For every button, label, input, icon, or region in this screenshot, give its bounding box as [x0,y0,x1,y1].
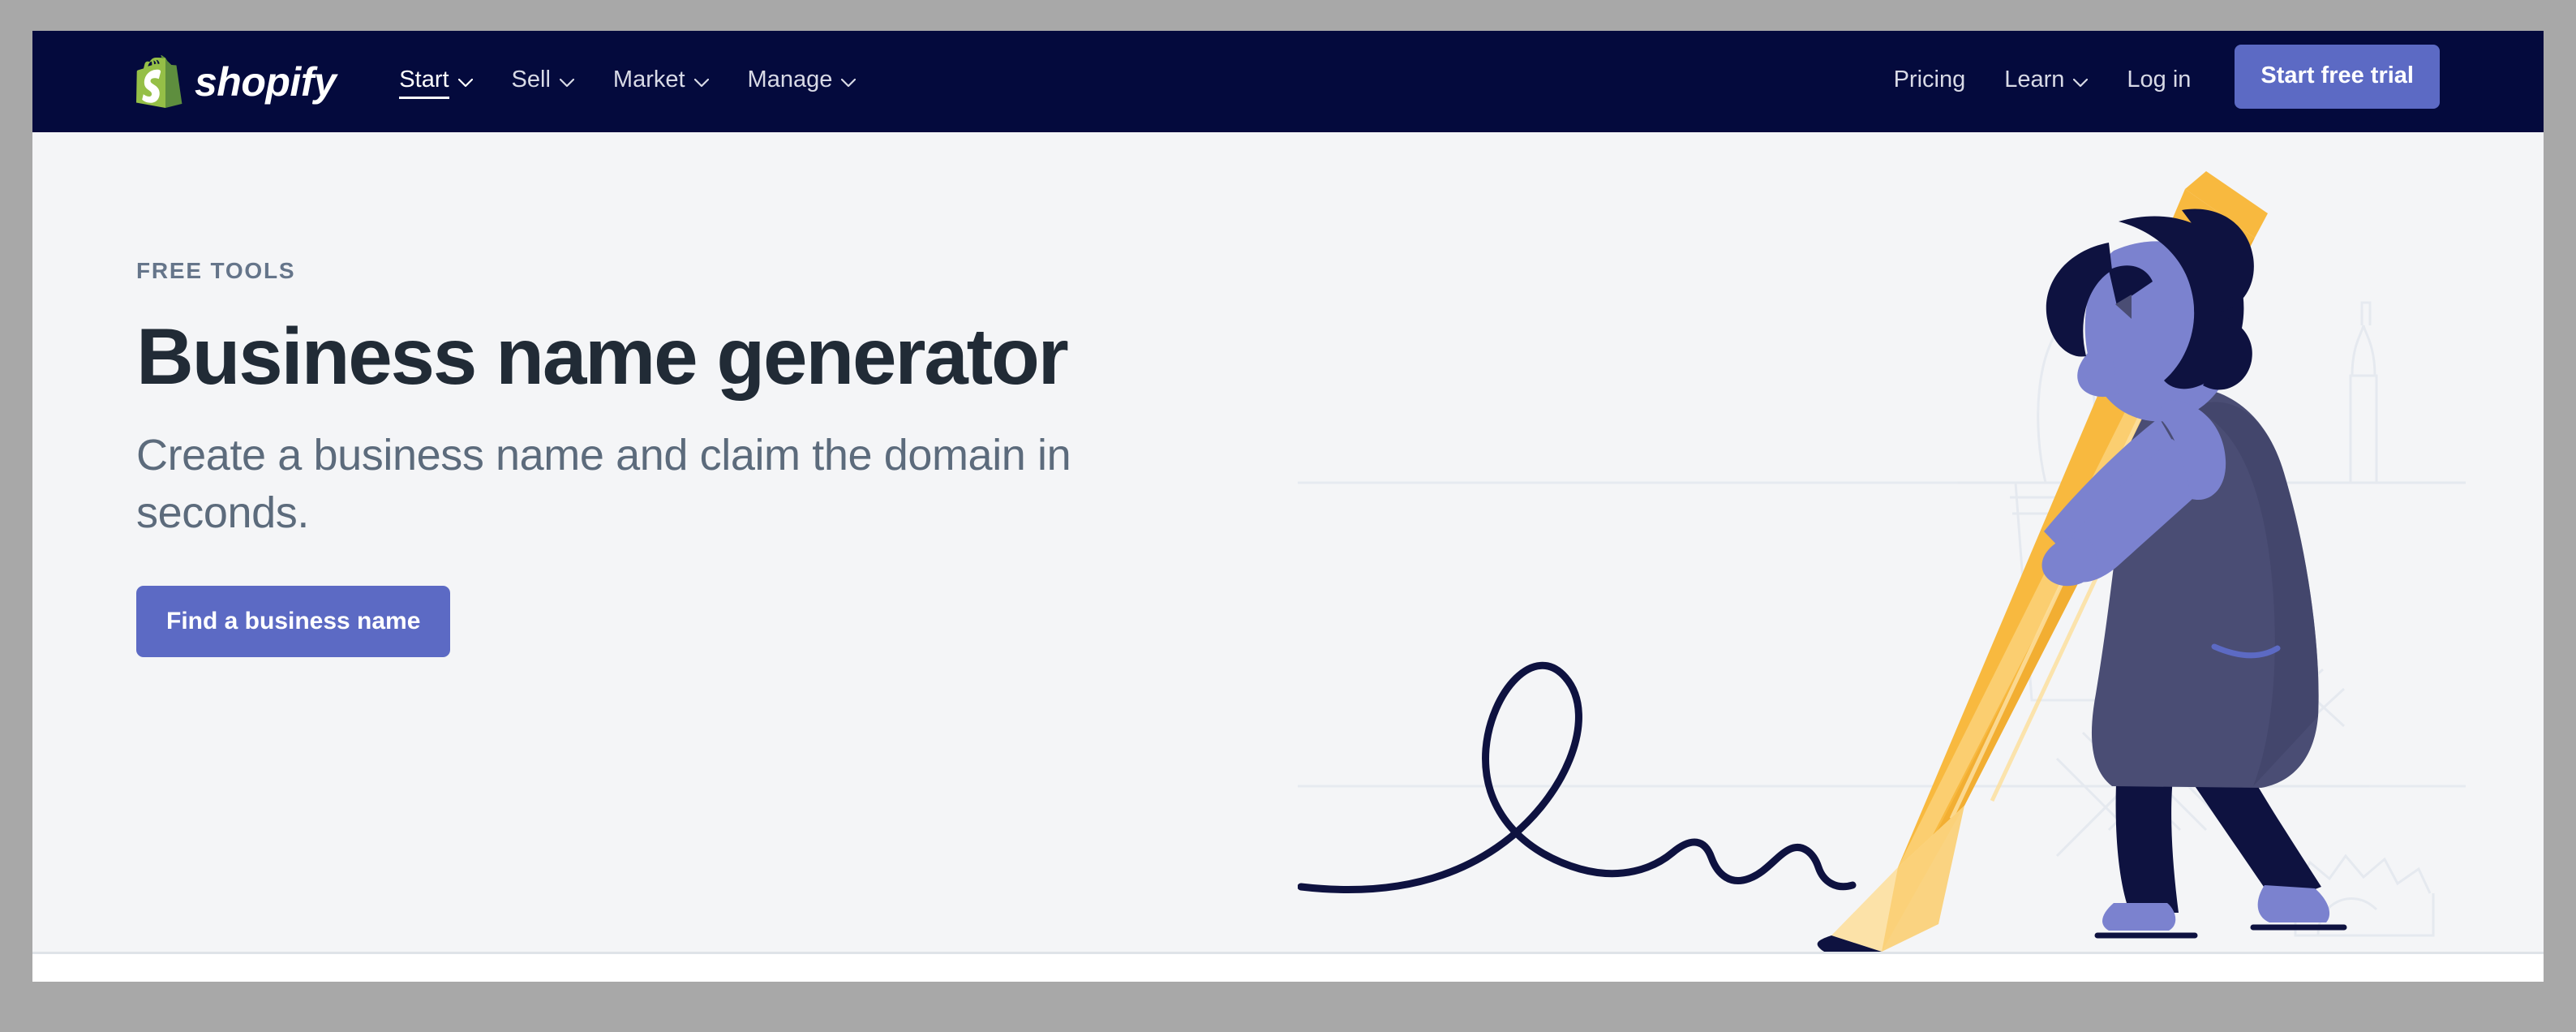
hero-section: FREE TOOLS Business name generator Creat… [32,132,2544,954]
chevron-down-icon [694,76,709,88]
chevron-down-icon [841,76,856,88]
hero-copy-block: FREE TOOLS Business name generator Creat… [136,258,1353,657]
browser-frame: shopify Start Sell Market [0,0,2576,1032]
chevron-down-icon [560,76,574,88]
giant-yellow-pencil [1818,171,2268,954]
nav-item-market-label: Market [613,67,685,97]
nav-item-sell[interactable]: Sell [492,62,594,101]
primary-navigation-bar: shopify Start Sell Market [32,31,2544,132]
shopify-bag-icon [136,55,183,109]
nav-item-market[interactable]: Market [594,62,728,101]
nav-item-learn-label: Learn [2004,67,2064,97]
chevron-down-icon [458,76,473,88]
nav-item-log-in-label: Log in [2127,67,2191,97]
hero-eyebrow: FREE TOOLS [136,258,1353,284]
find-a-business-name-button[interactable]: Find a business name [136,586,450,657]
nav-item-start[interactable]: Start [380,62,492,101]
nav-item-start-label: Start [399,67,449,97]
hero-illustration [1298,132,2466,954]
shopify-logo-link[interactable]: shopify [136,55,336,109]
nav-item-pricing[interactable]: Pricing [1874,62,1986,101]
page-title: Business name generator [136,316,1353,398]
nav-item-sell-label: Sell [512,67,551,97]
hero-subheadline: Create a business name and claim the dom… [136,427,1166,543]
nav-item-log-in[interactable]: Log in [2107,62,2210,101]
nav-primary-links: Start Sell Market [380,62,875,101]
nav-item-manage[interactable]: Manage [728,62,876,101]
handwritten-signature-squiggle [1301,665,1853,889]
standing-person-figure [2042,209,2344,935]
chevron-down-icon [2073,76,2088,88]
nav-item-manage-label: Manage [748,67,833,97]
faint-background-line-art [1298,303,2466,935]
start-free-trial-button[interactable]: Start free trial [2235,45,2440,109]
page-viewport: shopify Start Sell Market [32,31,2544,982]
nav-item-learn[interactable]: Learn [1985,62,2107,101]
nav-secondary-links: Pricing Learn Log in Start free trial [1874,49,2440,114]
shopify-wordmark: shopify [195,62,336,102]
page-footer-strip [32,957,2544,982]
nav-item-pricing-label: Pricing [1894,67,1966,97]
